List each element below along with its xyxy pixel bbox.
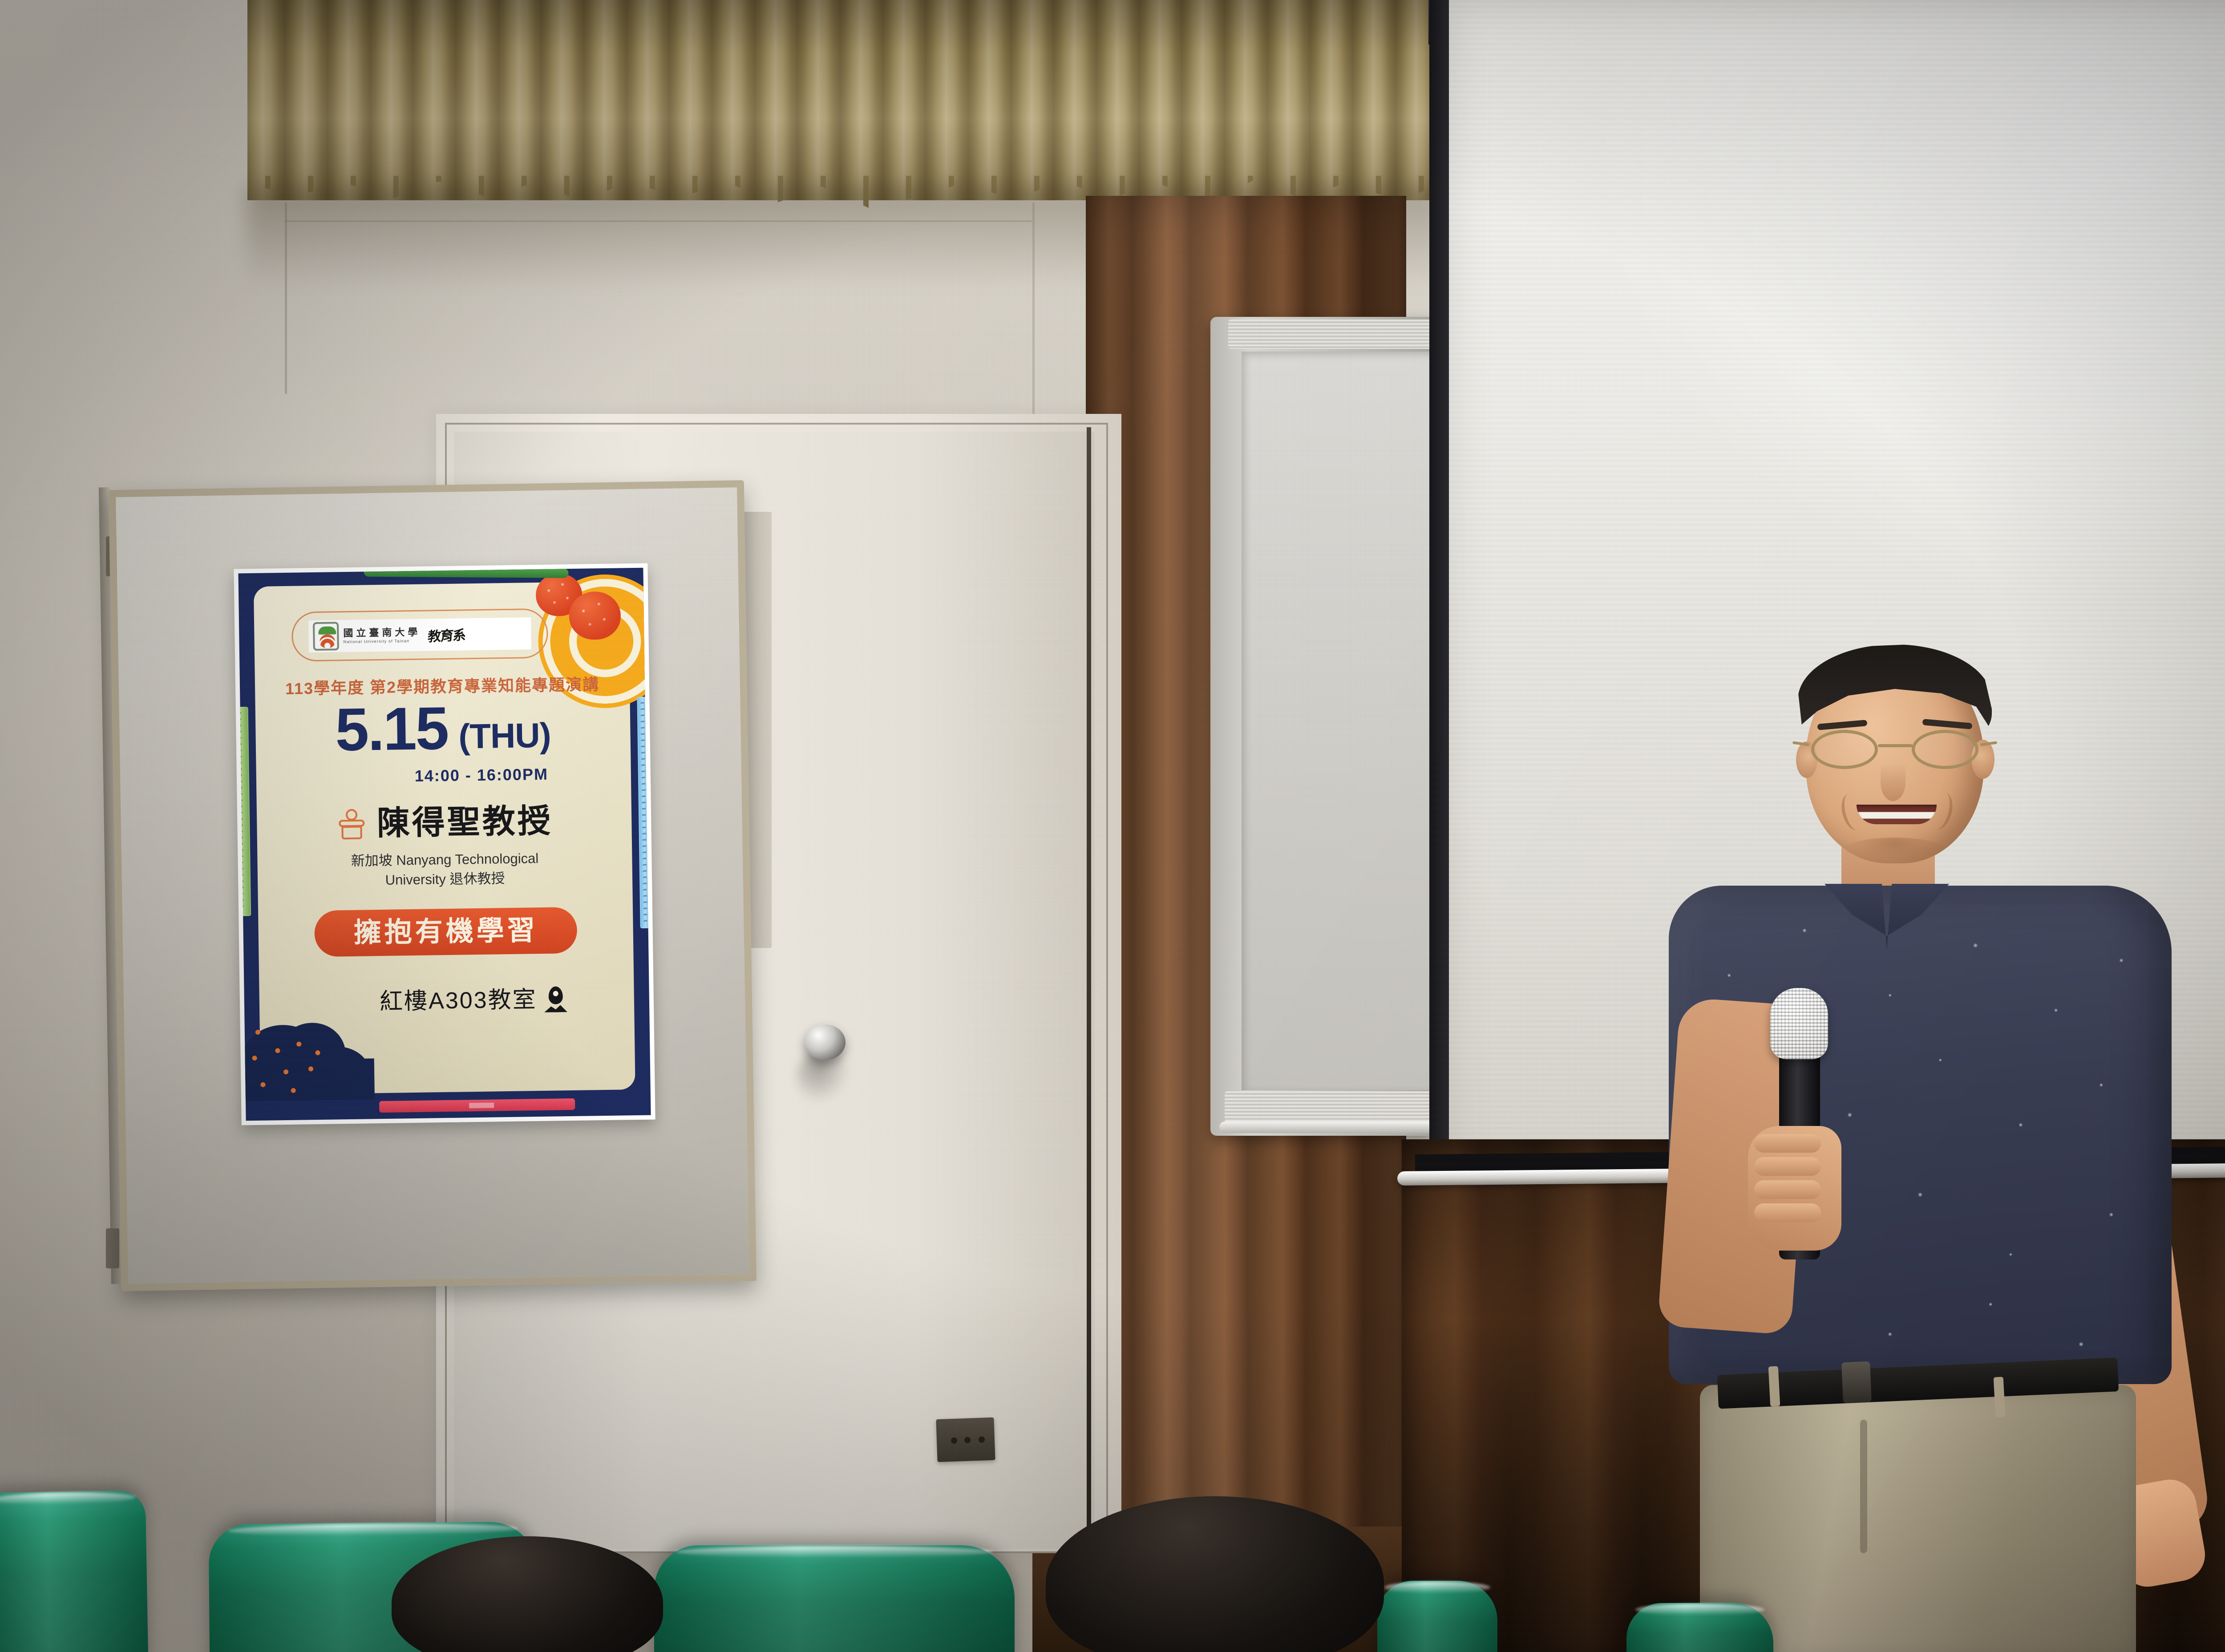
- speaker-trousers-fly: [1860, 1420, 1867, 1553]
- poster-speaker-name: 陳得聖教授: [376, 805, 553, 841]
- event-poster[interactable]: 國立臺南大學 National University of Tainan 教育系…: [234, 563, 655, 1126]
- speaker-chin-shadow: [1842, 838, 1947, 864]
- poster-venue: 紅樓A303教室: [380, 988, 537, 1013]
- chair[interactable]: [1626, 1603, 1773, 1652]
- poster-affiliation-line2: University 退休教授: [296, 867, 595, 891]
- whiteboard-bottom-rail: [1225, 1091, 1437, 1122]
- map-pin-icon: [544, 986, 567, 1012]
- whiteboard[interactable]: [1242, 352, 1433, 1090]
- university-name-cn: 國立臺南大學: [343, 627, 421, 638]
- chair[interactable]: [0, 1490, 148, 1652]
- poster-topic: 擁抱有機學習: [353, 917, 538, 947]
- speaker-belt-loop: [1768, 1366, 1780, 1406]
- speaker-person: [1664, 636, 2225, 1652]
- university-name-en: National University of Tainan: [344, 639, 421, 644]
- poster-topic-pill: 擁抱有機學習: [314, 907, 577, 957]
- chair[interactable]: [654, 1545, 1015, 1652]
- podium-icon: [336, 809, 367, 839]
- curtain-valance: [247, 0, 1444, 200]
- speaker-nose: [1881, 764, 1905, 801]
- poster-venue-row: 紅樓A303教室: [244, 985, 623, 1016]
- speaker-right-hand: [1748, 1126, 1841, 1251]
- wall-outlet-plate[interactable]: [936, 1417, 995, 1462]
- poster-board-hinge-pin: [106, 1228, 119, 1268]
- poster-date: 5.15: [335, 700, 448, 758]
- organizer-logo-pill: 國立臺南大學 National University of Tainan 教育系: [291, 608, 549, 662]
- pink-ruler-decoration-icon: [379, 1098, 575, 1113]
- department-calligraphy: 教育系: [427, 624, 466, 645]
- speaker-trousers: [1700, 1385, 2136, 1652]
- green-stem-decoration-icon: [364, 568, 568, 578]
- wall-seam: [285, 220, 1032, 222]
- poster-date-row: 5.15 (THU): [240, 698, 646, 759]
- university-emblem-icon: [313, 622, 339, 651]
- poster-speaker-row: 陳得聖教授: [242, 804, 647, 842]
- door-gap: [1087, 427, 1091, 1553]
- microphone-icon[interactable]: [1770, 988, 1828, 1059]
- speaker-mouth: [1857, 805, 1937, 824]
- poster-affiliation: 新加坡 Nanyang Technological University 退休教…: [295, 848, 594, 891]
- speaker-belt-buckle: [1841, 1361, 1872, 1404]
- berry-decoration-icon: [569, 591, 621, 640]
- whiteboard-marker-tray: [1219, 1122, 1451, 1133]
- speaker-belt-loop: [1994, 1377, 2006, 1417]
- wall-seam: [285, 202, 287, 394]
- whiteboard-top-rail: [1228, 320, 1437, 349]
- chair[interactable]: [1377, 1581, 1497, 1652]
- lecture-hall-photo: 國立臺南大學 National University of Tainan 教育系…: [0, 0, 2225, 1652]
- door-knob[interactable]: [805, 1024, 845, 1060]
- projection-screen-border: [1429, 0, 1450, 1202]
- poster-day-of-week: (THU): [458, 717, 551, 756]
